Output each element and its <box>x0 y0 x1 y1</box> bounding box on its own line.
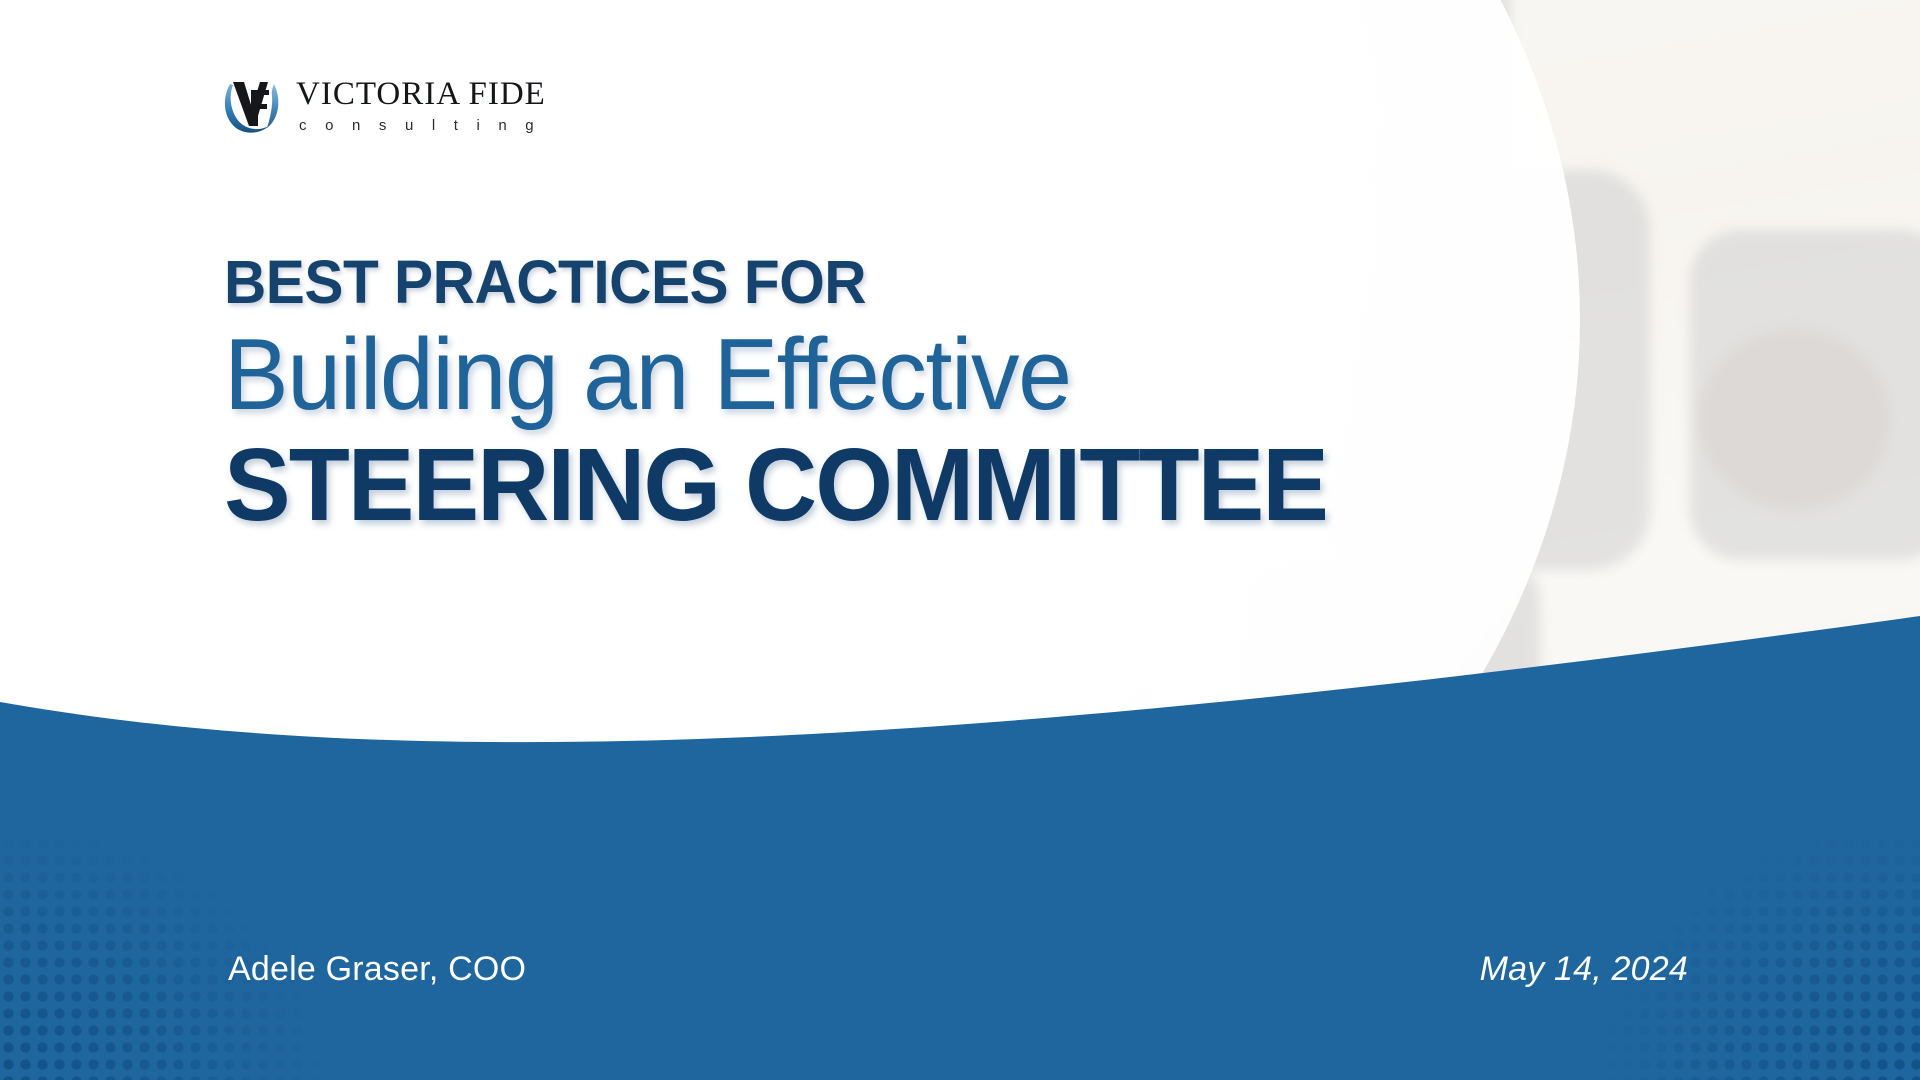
logo-company-name: VICTORIA FIDE <box>296 78 546 111</box>
title-line-main: Building an Effective <box>224 321 1299 430</box>
presentation-date: May 14, 2024 <box>1480 950 1688 989</box>
presenter-name: Adele Graser, COO <box>228 950 526 989</box>
title-line-emphasis: STEERING COMMITTEE <box>224 432 1310 537</box>
logo-wordmark: VICTORIA FIDE c o n s u l t i n g <box>296 78 546 133</box>
halftone-dots-left <box>0 750 420 1080</box>
vf-monogram-circle-icon <box>222 74 282 136</box>
title-line-eyebrow: BEST PRACTICES FOR <box>224 252 1299 313</box>
title-slide: VICTORIA FIDE c o n s u l t i n g BEST P… <box>0 0 1920 1080</box>
title-block: BEST PRACTICES FOR Building an Effective… <box>224 252 1344 537</box>
company-logo: VICTORIA FIDE c o n s u l t i n g <box>222 74 546 136</box>
footer-band <box>0 580 1920 1080</box>
halftone-dots-right <box>1500 750 1920 1080</box>
logo-tagline: c o n s u l t i n g <box>299 118 546 133</box>
